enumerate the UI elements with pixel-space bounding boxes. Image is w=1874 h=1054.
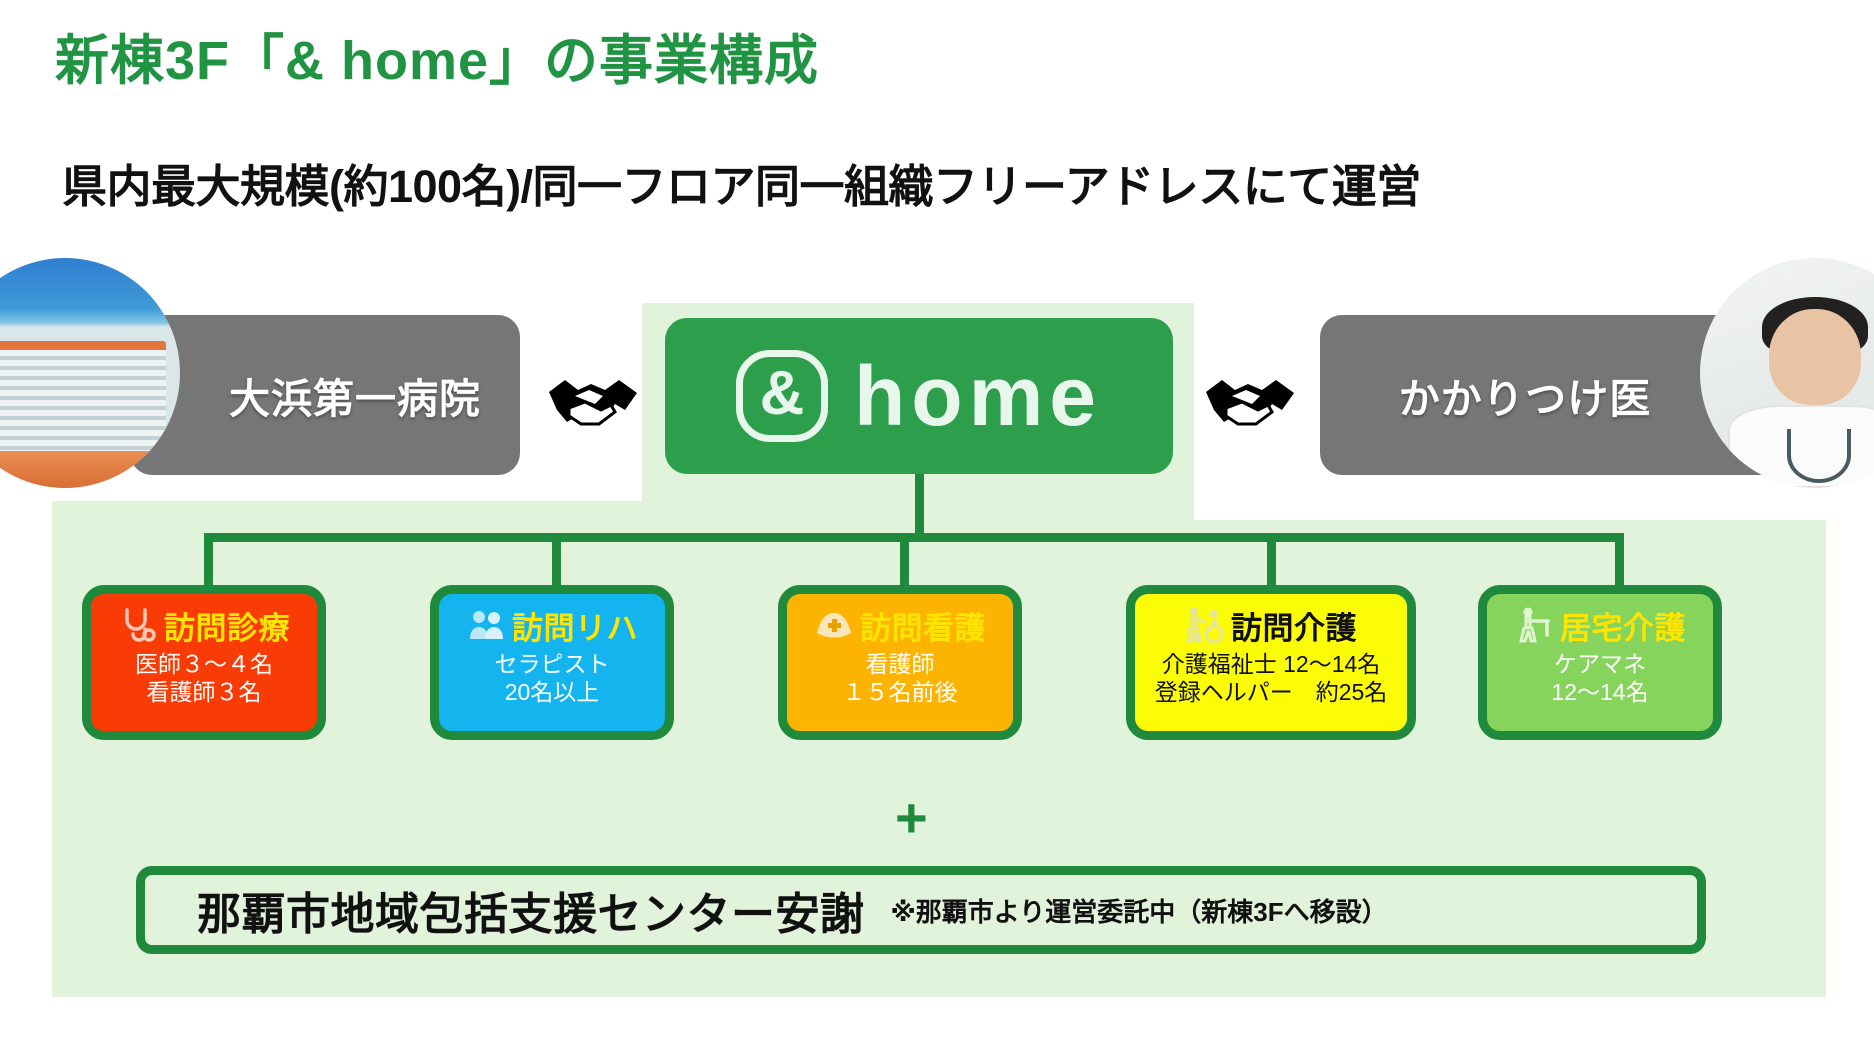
connector-drop-2 — [552, 533, 561, 585]
ampersand-mark: & — [736, 350, 828, 442]
service-title: 訪問リハ — [512, 603, 638, 648]
stethoscope-icon — [118, 605, 158, 645]
partner-label-hospital: 大浜第一病院 — [229, 365, 481, 425]
service-detail: 医師３〜４名 看護師３名 — [91, 650, 317, 706]
service-head: 訪問介護 — [1135, 602, 1407, 648]
service-card-home-helper[interactable]: 訪問介護 介護福祉士 12〜14名 登録ヘルパー 約25名 — [1126, 585, 1416, 740]
handshake-icon — [545, 372, 641, 434]
connector-drop-3 — [900, 533, 909, 585]
partner-label-family-doctor: かかりつけ医 — [1399, 365, 1651, 425]
service-card-home-nursing[interactable]: 訪問看護 看護師 １５名前後 — [778, 585, 1022, 740]
service-card-care-management[interactable]: 居宅介護 ケアマネ 12〜14名 — [1478, 585, 1722, 740]
service-title: 訪問看護 — [860, 603, 986, 648]
connector-drop-4 — [1267, 533, 1276, 585]
plus-sign: + — [895, 790, 928, 846]
service-title: 居宅介護 — [1560, 603, 1686, 648]
hospital-building-photo — [0, 258, 180, 488]
partner-box-hospital[interactable]: 大浜第一病院 — [130, 315, 520, 475]
bottom-banner[interactable]: 那覇市地域包括支援センター安謝 ※那覇市より運営委託中（新棟3Fへ移設） — [136, 866, 1706, 954]
service-detail: 介護福祉士 12〜14名 登録ヘルパー 約25名 — [1135, 650, 1407, 706]
therapists-icon — [466, 605, 506, 645]
connector-logo-drop — [915, 474, 924, 540]
connector-drop-5 — [1615, 533, 1624, 585]
service-detail: 看護師 １５名前後 — [787, 650, 1013, 706]
logo-wordmark: home — [854, 354, 1102, 438]
service-head: 訪問看護 — [787, 602, 1013, 648]
handshake-icon — [1202, 372, 1298, 434]
service-card-home-rehab[interactable]: 訪問リハ セラピスト 20名以上 — [430, 585, 674, 740]
wheelchair-assist-icon — [1185, 605, 1225, 645]
service-head: 訪問リハ — [439, 602, 665, 648]
doctor-portrait-photo — [1700, 258, 1874, 488]
service-card-homecare-medical[interactable]: 訪問診療 医師３〜４名 看護師３名 — [82, 585, 326, 740]
care-worker-icon — [1514, 605, 1554, 645]
service-head: 訪問診療 — [91, 602, 317, 648]
page-title: 新棟3F「& home」の事業構成 — [55, 16, 819, 95]
and-home-logo[interactable]: & home — [665, 318, 1173, 474]
connector-bus — [204, 533, 1624, 542]
service-detail: セラピスト 20名以上 — [439, 650, 665, 706]
page-subtitle: 県内最大規模(約100名)/同一フロア同一組織フリーアドレスにて運営 — [62, 150, 1421, 215]
service-head: 居宅介護 — [1487, 602, 1713, 648]
banner-title: 那覇市地域包括支援センター安謝 — [197, 878, 865, 942]
service-title: 訪問介護 — [1231, 603, 1357, 648]
banner-note: ※那覇市より運営委託中（新棟3Fへ移設） — [891, 892, 1388, 929]
connector-drop-1 — [204, 533, 213, 585]
service-title: 訪問診療 — [164, 603, 290, 648]
service-detail: ケアマネ 12〜14名 — [1487, 650, 1713, 706]
nurse-cap-icon — [814, 605, 854, 645]
